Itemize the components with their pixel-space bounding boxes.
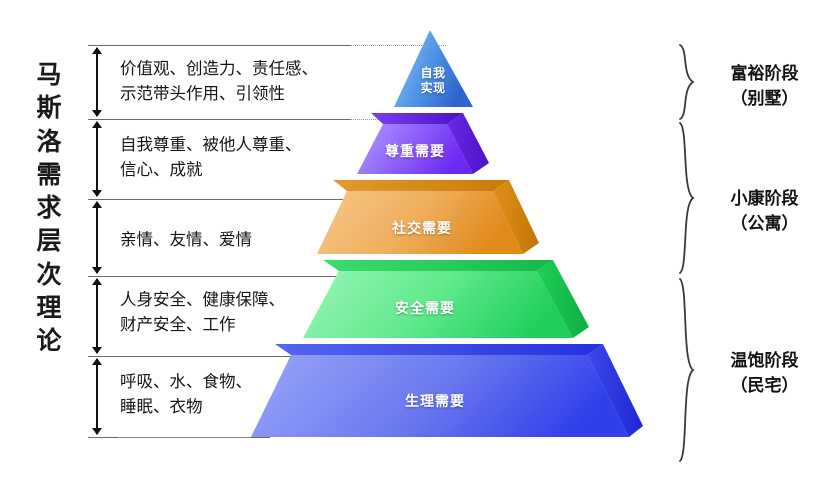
pyramid-level-social (317, 180, 539, 254)
dimension-arrow-self-actualization (96, 48, 98, 116)
stage-label-subsistence: 温饱阶段 （民宅） (712, 349, 817, 398)
brace-welloff (676, 122, 698, 274)
dimension-arrow-physiological (96, 359, 98, 434)
maslow-pyramid: 自我 实现 尊重需要 社交需要 安全需要 生理需要 (225, 28, 655, 448)
page-title: 马 斯 洛 需 求 层 次 理 论 (22, 58, 76, 357)
pyramid-level-esteem (357, 113, 489, 174)
diagram-canvas: 马 斯 洛 需 求 层 次 理 论 价值观、创造力、责任感、 示范带头作用、引领… (0, 0, 826, 480)
pyramid-level-safety (303, 260, 589, 338)
stage-label-welloff: 小康阶段 （公寓） (712, 187, 817, 236)
pyramid-level-self-actualization (394, 30, 473, 107)
dimension-arrow-social (96, 202, 98, 273)
brace-subsistence (676, 278, 698, 462)
dimension-arrow-safety (96, 279, 98, 353)
dimension-arrow-esteem (96, 122, 98, 196)
brace-affluent (676, 44, 698, 120)
stage-label-affluent: 富裕阶段 （别墅） (712, 62, 817, 111)
pyramid-level-physiological (251, 344, 643, 437)
